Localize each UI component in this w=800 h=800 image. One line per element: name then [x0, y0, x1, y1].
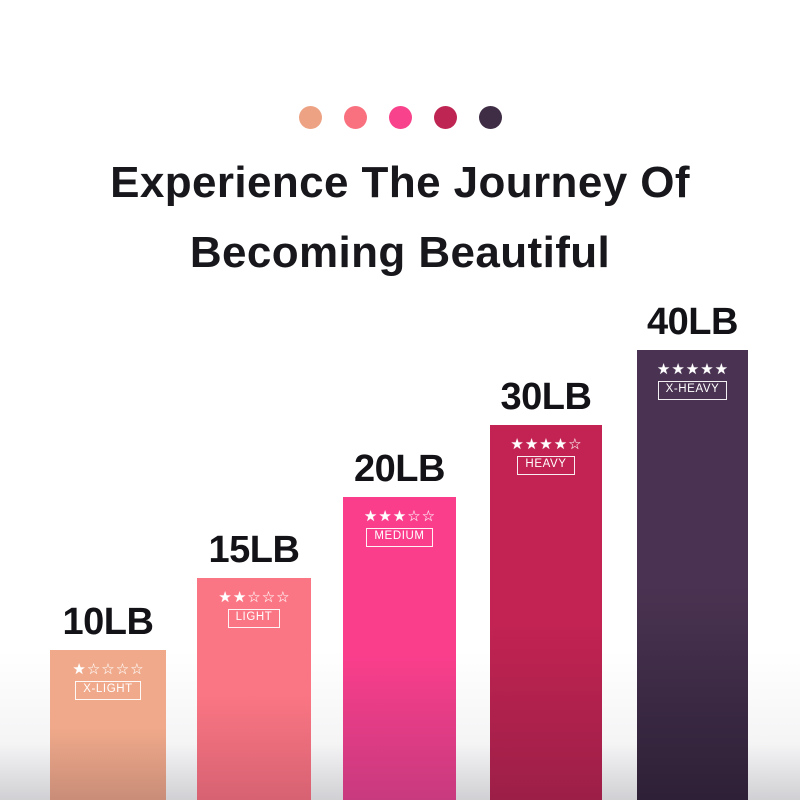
star-empty-icon: ☆	[568, 437, 581, 452]
star-empty-icon: ☆	[422, 509, 435, 524]
star-filled-icon: ★	[686, 362, 699, 377]
star-rating-10lb: ★☆☆☆☆	[72, 662, 143, 677]
star-filled-icon: ★	[657, 362, 670, 377]
dot-heavy-swatch	[434, 106, 457, 129]
star-filled-icon: ★	[233, 590, 246, 605]
weight-label-30lb: 30LB	[501, 376, 592, 419]
dot-medium-swatch	[389, 106, 412, 129]
bar-badge-stack: ★★★★☆HEAVY	[490, 437, 602, 475]
weight-label-15lb: 15LB	[209, 529, 300, 572]
bar-10lb[interactable]: ★☆☆☆☆X-LIGHT	[50, 650, 166, 800]
page-title-line-1: Experience The Journey Of	[0, 148, 800, 218]
star-empty-icon: ☆	[276, 590, 289, 605]
bar-40lb[interactable]: ★★★★★X-HEAVY	[637, 350, 748, 800]
bar-20lb[interactable]: ★★★☆☆MEDIUM	[343, 497, 456, 800]
star-filled-icon: ★	[364, 509, 377, 524]
star-rating-15lb: ★★☆☆☆	[218, 590, 289, 605]
star-empty-icon: ☆	[87, 662, 100, 677]
bar-badge-stack: ★★★★★X-HEAVY	[637, 362, 748, 400]
dot-x-light-swatch	[299, 106, 322, 129]
star-filled-icon: ★	[72, 662, 85, 677]
bar-group-20lb[interactable]: 20LB★★★☆☆MEDIUM	[343, 497, 456, 800]
weight-label-10lb: 10LB	[63, 601, 154, 644]
star-filled-icon: ★	[671, 362, 684, 377]
star-filled-icon: ★	[554, 437, 567, 452]
infographic-canvas: Experience The Journey Of Becoming Beaut…	[0, 0, 800, 800]
star-filled-icon: ★	[525, 437, 538, 452]
bar-group-30lb[interactable]: 30LB★★★★☆HEAVY	[490, 425, 602, 800]
star-filled-icon: ★	[218, 590, 231, 605]
dot-x-heavy-swatch	[479, 106, 502, 129]
star-rating-30lb: ★★★★☆	[510, 437, 581, 452]
bar-group-40lb[interactable]: 40LB★★★★★X-HEAVY	[637, 350, 748, 800]
weight-label-20lb: 20LB	[354, 448, 445, 491]
bar-badge-stack: ★☆☆☆☆X-LIGHT	[50, 662, 166, 700]
color-swatch-row	[0, 106, 800, 129]
bar-fill	[637, 350, 748, 800]
star-empty-icon: ☆	[262, 590, 275, 605]
star-filled-icon: ★	[378, 509, 391, 524]
resistance-badge-20lb: MEDIUM	[366, 528, 432, 547]
star-filled-icon: ★	[700, 362, 713, 377]
star-empty-icon: ☆	[116, 662, 129, 677]
resistance-badge-30lb: HEAVY	[517, 456, 574, 475]
star-filled-icon: ★	[510, 437, 523, 452]
star-filled-icon: ★	[539, 437, 552, 452]
resistance-badge-40lb: X-HEAVY	[658, 381, 728, 400]
star-rating-40lb: ★★★★★	[657, 362, 728, 377]
star-empty-icon: ☆	[130, 662, 143, 677]
bar-group-15lb[interactable]: 15LB★★☆☆☆LIGHT	[197, 578, 311, 800]
dot-light-swatch	[344, 106, 367, 129]
bar-30lb[interactable]: ★★★★☆HEAVY	[490, 425, 602, 800]
page-title-line-2: Becoming Beautiful	[0, 218, 800, 288]
star-empty-icon: ☆	[407, 509, 420, 524]
resistance-badge-10lb: X-LIGHT	[75, 681, 141, 700]
star-empty-icon: ☆	[101, 662, 114, 677]
weight-label-40lb: 40LB	[647, 301, 738, 344]
bar-chart: 10LB★☆☆☆☆X-LIGHT15LB★★☆☆☆LIGHT20LB★★★☆☆M…	[0, 280, 800, 800]
bar-15lb[interactable]: ★★☆☆☆LIGHT	[197, 578, 311, 800]
bar-badge-stack: ★★☆☆☆LIGHT	[197, 590, 311, 628]
bar-group-10lb[interactable]: 10LB★☆☆☆☆X-LIGHT	[50, 650, 166, 800]
resistance-badge-15lb: LIGHT	[228, 609, 281, 628]
star-filled-icon: ★	[715, 362, 728, 377]
page-title: Experience The Journey Of Becoming Beaut…	[0, 148, 800, 288]
star-filled-icon: ★	[393, 509, 406, 524]
bar-badge-stack: ★★★☆☆MEDIUM	[343, 509, 456, 547]
star-rating-20lb: ★★★☆☆	[364, 509, 435, 524]
star-empty-icon: ☆	[247, 590, 260, 605]
bar-fill	[490, 425, 602, 800]
